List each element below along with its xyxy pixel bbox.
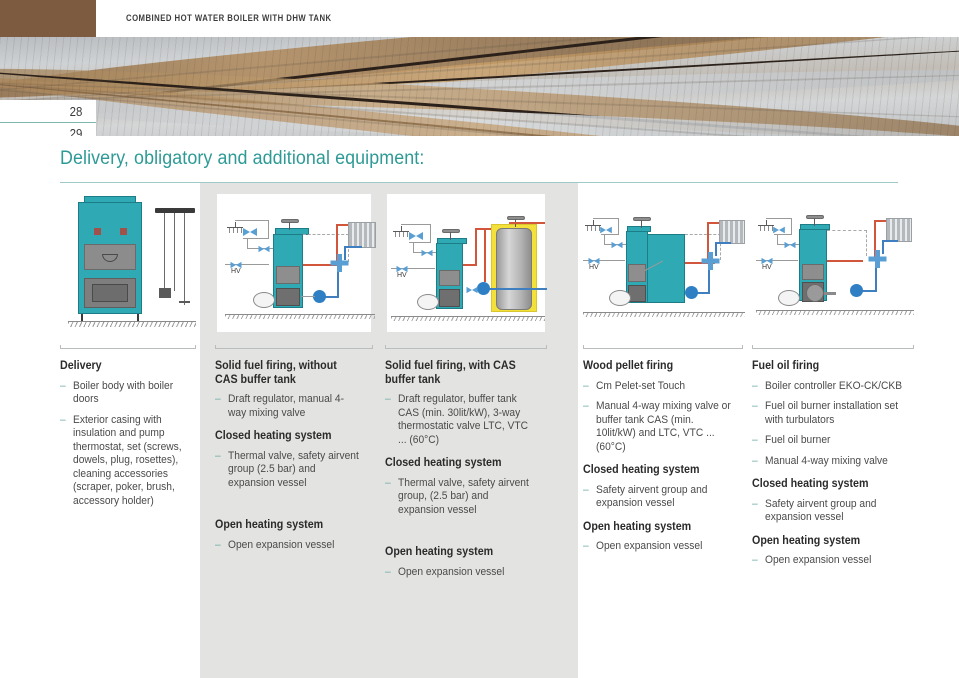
schematic-illustration: HV xyxy=(385,190,547,338)
list-item: Manual 4-way mixing valve or buffer tank… xyxy=(583,400,732,454)
mixing-valve-icon xyxy=(868,250,886,268)
column-list: Cm Pelet-set Touch Manual 4-way mixing v… xyxy=(583,380,743,455)
cold-water-label: HV xyxy=(231,268,241,275)
schematic-illustration: HV xyxy=(583,190,743,338)
shower-icon xyxy=(393,226,409,238)
radiator-icon xyxy=(348,222,376,248)
list-item: Manual 4-way mixing valve xyxy=(752,455,903,469)
column-heading: Delivery xyxy=(60,360,186,374)
thermal-valve-icon xyxy=(600,224,612,236)
list-item: Fuel oil burner xyxy=(752,434,903,448)
airvent-icon xyxy=(631,216,653,228)
page-number-left: 28 xyxy=(0,100,96,122)
column-solid-fuel-no-cas: HV Solid fuel firing xyxy=(215,190,373,559)
column-heading: Open heating system xyxy=(583,521,732,535)
check-valve-icon xyxy=(611,239,622,250)
ground-line xyxy=(756,310,914,311)
list-item: Open expansion vessel xyxy=(215,539,362,553)
column-heading: Open heating system xyxy=(752,535,903,549)
list-item: Boiler controller EKO-CK/CKB xyxy=(752,380,903,394)
list-item: Thermal valve, safety airvent group (2.5… xyxy=(215,450,362,491)
column-heading: Fuel oil firing xyxy=(752,360,903,374)
column-heading: Closed heating system xyxy=(752,478,903,492)
list-item: Exterior casing with insulation and pump… xyxy=(60,414,186,509)
shower-icon xyxy=(227,222,243,234)
column-heading: Open heating system xyxy=(215,519,362,533)
column-list: Safety airvent group and expansion vesse… xyxy=(752,498,914,525)
pump-icon xyxy=(850,284,863,297)
thermal-valve-icon xyxy=(243,225,257,239)
list-item: Boiler body with boiler doors xyxy=(60,380,186,407)
column-list: Open expansion vessel xyxy=(385,566,547,580)
check-valve-icon xyxy=(258,243,269,254)
page-title: Delivery, obligatory and additional equi… xyxy=(60,148,424,170)
column-rule xyxy=(215,342,373,356)
column-heading: Open heating system xyxy=(385,546,536,560)
list-item: Cm Pelet-set Touch xyxy=(583,380,732,394)
column-fuel-oil: HV Fuel oil f xyxy=(752,190,914,575)
column-list: Thermal valve, safety airvent group, (2.… xyxy=(385,477,547,518)
thermal-valve-icon xyxy=(409,229,423,243)
page-number-divider xyxy=(0,122,96,123)
column-solid-fuel-with-cas: HV Solid fuel firing, with CAS buffer ta… xyxy=(385,190,547,586)
column-heading: Closed heating system xyxy=(215,430,362,444)
column-heading: Solid fuel firing, without CAS buffer ta… xyxy=(215,360,362,387)
check-valve-icon xyxy=(421,247,432,258)
column-list: Boiler body with boiler doors Exterior c… xyxy=(60,380,196,509)
buffer-tank-icon xyxy=(496,228,532,310)
column-list: Draft regulator, buffer tank CAS (min. 3… xyxy=(385,393,547,447)
hydraulic-schematic: HV xyxy=(752,190,914,338)
cleaning-accessories-icon xyxy=(155,208,195,316)
list-item: Draft regulator, buffer tank CAS (min. 3… xyxy=(385,393,536,447)
brand-color-block xyxy=(0,0,96,37)
column-list: Open expansion vessel xyxy=(752,554,914,568)
hydraulic-schematic: HV xyxy=(387,194,545,332)
pellet-hopper xyxy=(647,234,685,303)
schematic-illustration: HV xyxy=(752,190,914,338)
expansion-vessel-icon xyxy=(253,292,275,308)
column-rule xyxy=(60,342,196,356)
shower-icon xyxy=(585,220,601,232)
list-item: Fuel oil burner installation set with tu… xyxy=(752,400,903,427)
ground-line xyxy=(583,312,745,313)
list-item: Thermal valve, safety airvent group, (2.… xyxy=(385,477,536,518)
column-list: Boiler controller EKO-CK/CKB Fuel oil bu… xyxy=(752,380,914,469)
ground-line xyxy=(68,321,196,322)
column-list: Draft regulator, manual 4-way mixing val… xyxy=(215,393,373,420)
airvent-icon xyxy=(440,228,462,240)
expansion-vessel-icon xyxy=(609,290,631,306)
column-wood-pellet: HV Wood pelle xyxy=(583,190,743,561)
mixing-valve-icon xyxy=(701,252,719,270)
column-list: Safety airvent group and expansion vesse… xyxy=(583,484,743,511)
wood-texture-banner: 28 29 xyxy=(0,37,959,136)
column-list: Open expansion vessel xyxy=(215,539,373,553)
column-rule xyxy=(583,342,743,356)
oil-burner-icon xyxy=(806,284,824,302)
schematic-illustration: HV xyxy=(215,190,373,338)
pump-icon xyxy=(477,282,490,295)
check-valve-icon xyxy=(784,239,795,250)
airvent-icon xyxy=(279,218,301,230)
list-item: Open expansion vessel xyxy=(583,540,732,554)
column-heading: Closed heating system xyxy=(385,457,536,471)
column-list: Open expansion vessel xyxy=(583,540,743,554)
radiator-icon xyxy=(886,218,912,242)
list-item: Open expansion vessel xyxy=(385,566,536,580)
cold-water-label: HV xyxy=(762,264,772,271)
boiler-unit-icon xyxy=(78,196,142,318)
expansion-vessel-icon xyxy=(778,290,800,306)
hydraulic-schematic: HV xyxy=(217,194,371,332)
column-list: Thermal valve, safety airvent group (2.5… xyxy=(215,450,373,491)
column-rule xyxy=(752,342,914,356)
shower-icon xyxy=(758,220,774,232)
list-item: Open expansion vessel xyxy=(752,554,903,568)
pump-icon xyxy=(685,286,698,299)
mixing-valve-icon xyxy=(330,254,348,272)
column-heading: Wood pellet firing xyxy=(583,360,732,374)
cold-water-label: HV xyxy=(397,272,407,279)
thermal-valve-icon xyxy=(773,224,785,236)
airvent-icon xyxy=(804,214,826,226)
page-number-right: 29 xyxy=(0,122,96,136)
ground-line xyxy=(225,314,375,315)
column-delivery: Delivery Boiler body with boiler doors E… xyxy=(60,190,196,515)
radiator-icon xyxy=(719,220,745,244)
column-heading: Closed heating system xyxy=(583,464,732,478)
running-header-title: COMBINED HOT WATER BOILER WITH DHW TANK xyxy=(126,13,332,23)
tank-airvent-icon xyxy=(505,215,527,227)
wood-grain xyxy=(0,37,959,136)
column-rule xyxy=(385,342,547,356)
ground-line xyxy=(391,316,545,317)
list-item: Safety airvent group and expansion vesse… xyxy=(583,484,732,511)
list-item: Draft regulator, manual 4-way mixing val… xyxy=(215,393,362,420)
hydraulic-schematic: HV xyxy=(583,190,743,338)
list-item: Safety airvent group and expansion vesse… xyxy=(752,498,903,525)
boiler-illustration xyxy=(60,190,196,338)
valve-icon xyxy=(466,284,477,295)
expansion-vessel-icon xyxy=(417,294,439,310)
column-heading: Solid fuel firing, with CAS buffer tank xyxy=(385,360,536,387)
cold-water-label: HV xyxy=(589,264,599,271)
page-header: COMBINED HOT WATER BOILER WITH DHW TANK xyxy=(0,0,959,37)
